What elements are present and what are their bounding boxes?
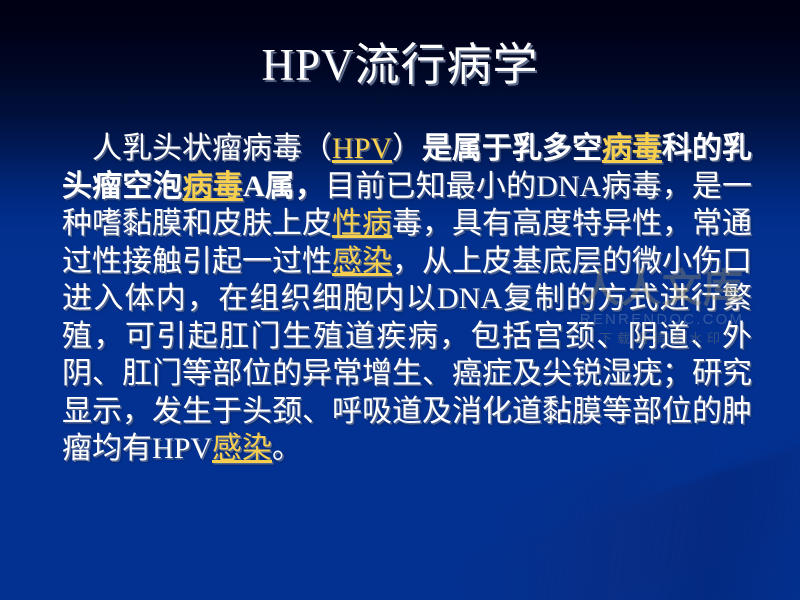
highlighted-term: 感染 [332,245,392,278]
highlighted-term: 感染 [212,432,272,465]
body-text-run: 是属于乳多空 [422,132,602,165]
body-text-run: ） [392,132,422,165]
slide-title: HPV流行病学 [0,38,800,92]
slide-body-text: 人乳头状瘤病毒（HPV）是属于乳多空病毒科的乳头瘤空泡病毒A属，目前已知最小的D… [62,130,752,468]
body-text-run: A属， [243,170,325,203]
highlighted-term: 病毒 [602,132,662,165]
body-text-run: 。 [272,432,302,465]
body-paragraph: 人乳头状瘤病毒（HPV）是属于乳多空病毒科的乳头瘤空泡病毒A属，目前已知最小的D… [62,130,752,468]
highlighted-term: HPV [332,132,392,165]
highlighted-term: 病毒 [183,170,243,203]
highlighted-term: 性病 [332,207,392,240]
slide-canvas: HPV流行病学 人乳头状瘤病毒（HPV）是属于乳多空病毒科的乳头瘤空泡病毒A属，… [0,0,800,600]
body-text-run: 人乳头状瘤病毒（ [92,132,332,165]
